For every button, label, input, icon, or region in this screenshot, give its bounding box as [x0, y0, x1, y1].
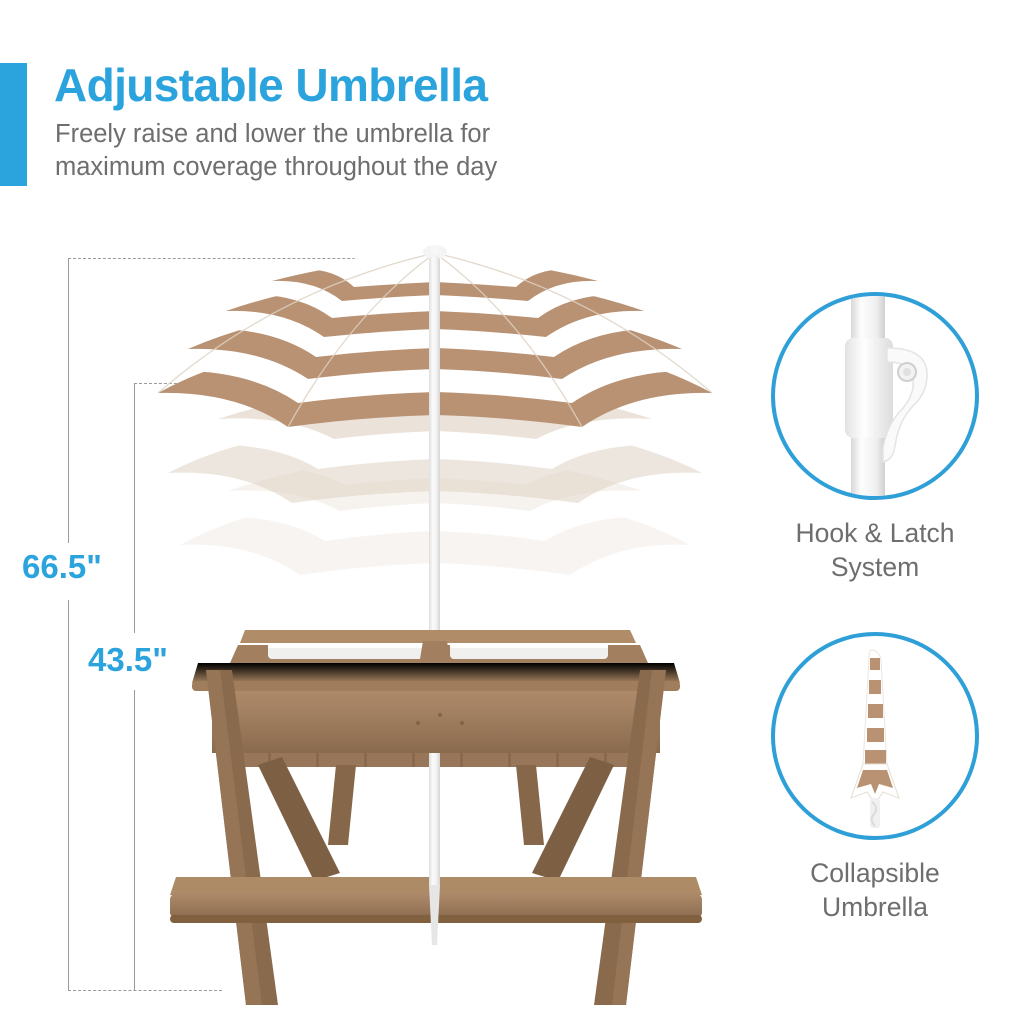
- callout-hook-latch: Hook & Latch System: [730, 292, 1020, 584]
- callout-label-collapsible: Collapsible Umbrella: [730, 856, 1020, 924]
- dimension-line-table-lower: [134, 690, 135, 990]
- closed-umbrella-icon: [775, 636, 975, 836]
- table-apron: [212, 691, 660, 753]
- callout-circle-hook-latch: [771, 292, 979, 500]
- table-brace-left: [258, 757, 340, 881]
- umbrella-pole-latch-icon: [775, 296, 975, 496]
- callout-circle-collapsible: [771, 632, 979, 840]
- umbrella-pole-lower: [429, 753, 440, 885]
- page-subtitle: Freely raise and lower the umbrella for …: [55, 118, 497, 184]
- dimension-label-overall-height: 66.5": [22, 548, 102, 586]
- dimension-line-overall-upper: [68, 258, 69, 543]
- umbrella-pole-tip: [429, 885, 440, 945]
- dimension-line-overall-lower: [68, 600, 69, 990]
- callout-collapsible-umbrella: Collapsible Umbrella: [730, 632, 1020, 924]
- product-infographic: Adjustable Umbrella Freely raise and low…: [0, 0, 1024, 1024]
- page-title: Adjustable Umbrella: [54, 58, 487, 112]
- callout-label-hook-latch: Hook & Latch System: [730, 516, 1020, 584]
- dimension-line-table-upper: [134, 383, 135, 633]
- header-accent-bar: [0, 63, 27, 186]
- table-brace-right: [532, 757, 614, 881]
- product-illustration: [150, 245, 720, 1005]
